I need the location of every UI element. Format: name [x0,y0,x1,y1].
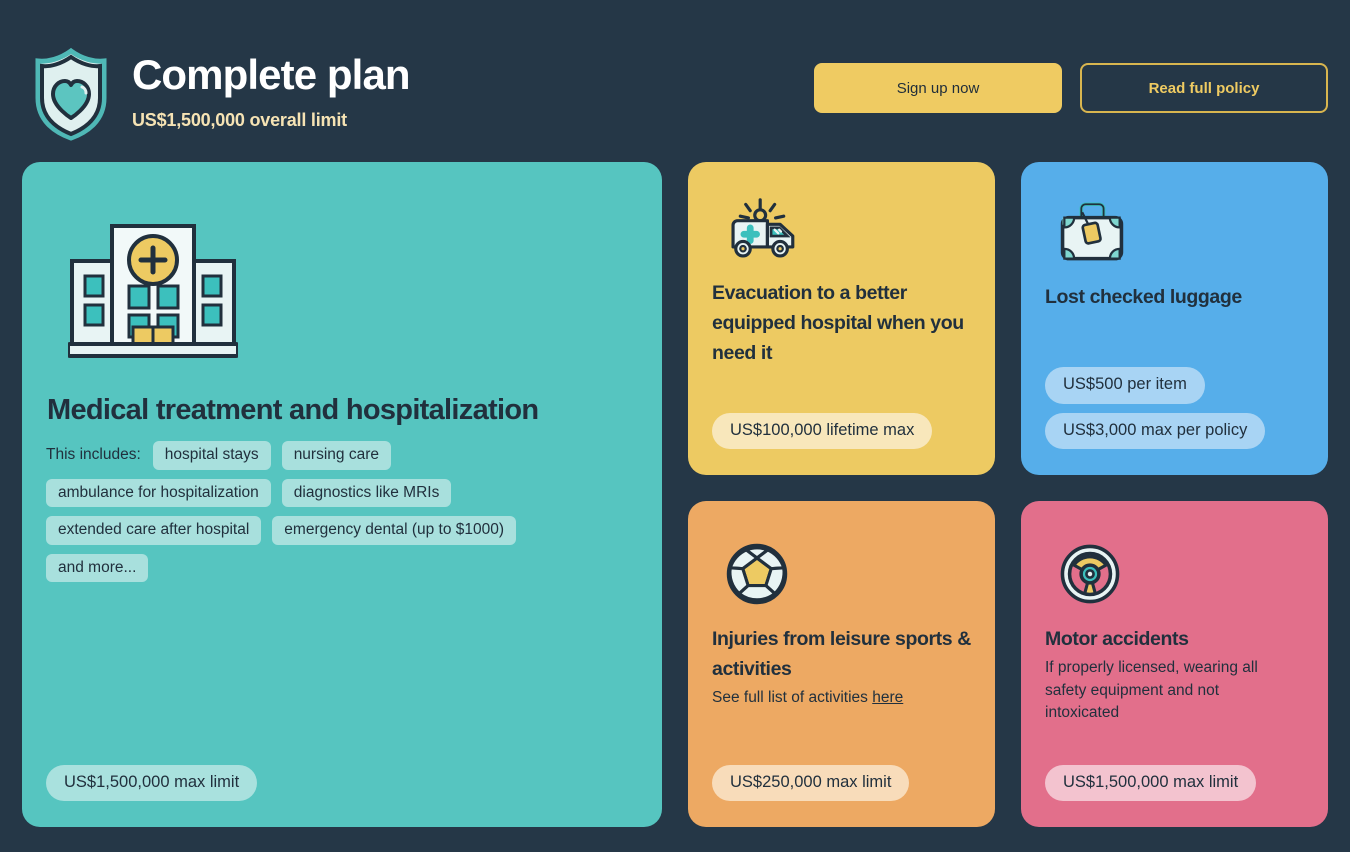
header-actions: Sign up now Read full policy [814,38,1328,113]
tag-item[interactable]: and more... [46,554,148,583]
tag-item[interactable]: nursing care [282,441,391,470]
soccer-ball-icon [712,542,971,606]
sports-subtext-prefix: See full list of activities [712,689,872,706]
card-lost-luggage[interactable]: Lost checked luggage US$500 per item US$… [1021,162,1328,475]
tag-item[interactable]: hospital stays [153,441,271,470]
tag-item[interactable]: diagnostics like MRIs [282,479,452,508]
limit-pill: US$500 per item [1045,367,1205,404]
motor-subtext: If properly licensed, wearing all safety… [1045,657,1287,724]
limit-pill: US$1,500,000 max limit [1045,765,1256,802]
steering-wheel-icon [1045,542,1304,606]
page-header: Complete plan US$1,500,000 overall limit… [22,22,1328,162]
read-full-policy-button[interactable]: Read full policy [1080,63,1328,113]
limit-pill: US$3,000 max per policy [1045,413,1265,450]
page-title: Complete plan [132,54,410,96]
right-columns: Evacuation to a better equipped hospital… [688,162,1328,827]
motor-pill-area: US$1,500,000 max limit [1045,765,1304,802]
luggage-heading: Lost checked luggage [1045,282,1304,312]
sports-pill-area: US$250,000 max limit [712,765,971,802]
includes-label: This includes: [46,446,141,464]
sports-subtext: See full list of activities here [712,687,971,709]
shield-heart-icon [30,46,112,142]
brand-block: Complete plan US$1,500,000 overall limit [22,38,410,142]
medical-column: Medical treatment and hospitalization Th… [22,162,662,827]
suitcase-icon [1045,198,1304,264]
card-evacuation[interactable]: Evacuation to a better equipped hospital… [688,162,995,475]
card-medical-treatment[interactable]: Medical treatment and hospitalization Th… [22,162,662,827]
right-column: Lost checked luggage US$500 per item US$… [1021,162,1328,827]
tag-item[interactable]: emergency dental (up to $1000) [272,516,516,545]
evacuation-heading: Evacuation to a better equipped hospital… [712,278,968,369]
evacuation-pill-area: US$100,000 lifetime max [712,413,971,450]
limit-pill: US$250,000 max limit [712,765,909,802]
limit-pill: US$1,500,000 max limit [46,765,257,802]
hospital-icon [46,220,638,360]
card-motor-accidents[interactable]: Motor accidents If properly licensed, we… [1021,501,1328,827]
benefits-grid: Medical treatment and hospitalization Th… [22,162,1328,827]
sports-heading: Injuries from leisure sports & activitie… [712,624,971,684]
limit-pill: US$100,000 lifetime max [712,413,932,450]
overall-limit-label: US$1,500,000 overall limit [132,110,410,131]
motor-heading: Motor accidents [1045,624,1304,654]
plan-page: Complete plan US$1,500,000 overall limit… [0,0,1350,852]
tag-item[interactable]: extended care after hospital [46,516,261,545]
medical-heading: Medical treatment and hospitalization [46,394,638,427]
sign-up-now-button[interactable]: Sign up now [814,63,1062,113]
medical-pill-area: US$1,500,000 max limit [46,765,638,802]
see-full-list-link[interactable]: here [872,689,903,706]
medical-includes-tags: This includes: hospital stays nursing ca… [46,441,566,582]
luggage-pill-area: US$500 per item US$3,000 max per policy [1045,367,1304,449]
tag-item[interactable]: ambulance for hospitalization [46,479,271,508]
card-leisure-sports[interactable]: Injuries from leisure sports & activitie… [688,501,995,827]
brand-text: Complete plan US$1,500,000 overall limit [132,38,410,131]
middle-column: Evacuation to a better equipped hospital… [688,162,995,827]
ambulance-icon [712,194,971,260]
